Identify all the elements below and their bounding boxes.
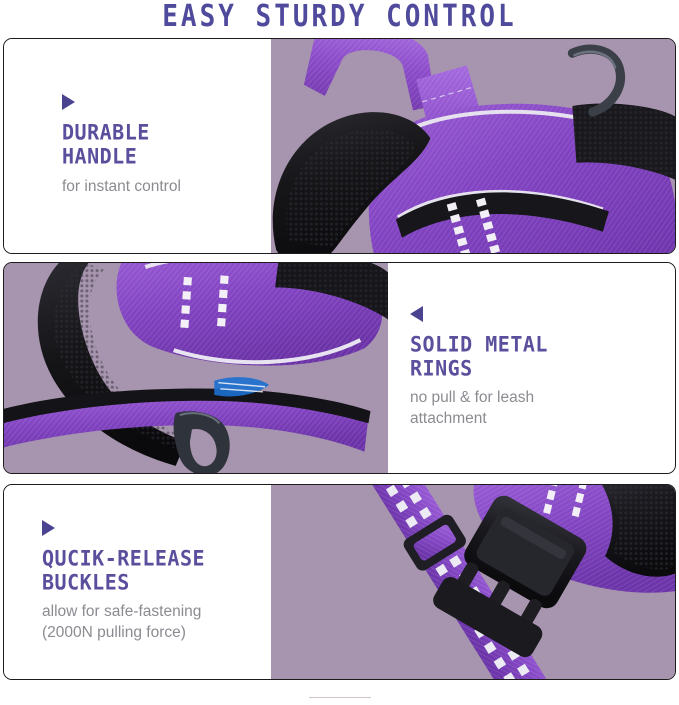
- feature-text-block: SOLID METAL RINGS no pull & for leash at…: [388, 263, 675, 473]
- page-title: EASY STURDY CONTROL: [0, 0, 679, 37]
- feature-text-block: DURABLE HANDLE for instant control: [4, 39, 271, 253]
- harness-handle-illustration: [271, 39, 675, 253]
- triangle-left-icon: [410, 306, 423, 322]
- feature-heading: SOLID METAL RINGS: [410, 332, 675, 380]
- triangle-right-icon: [42, 520, 55, 536]
- feature-heading: QUCIK-RELEASE BUCKLES: [42, 546, 271, 594]
- feature-panel-durable-handle: DURABLE HANDLE for instant control: [3, 38, 676, 254]
- feature-heading: DURABLE HANDLE: [62, 120, 271, 168]
- bottom-divider: [309, 697, 371, 698]
- product-feature-infographic: EASY STURDY CONTROL DURABLE HANDLE for i…: [0, 0, 679, 705]
- feature-text-block: QUCIK-RELEASE BUCKLES allow for safe-fas…: [4, 485, 271, 679]
- harness-ring-illustration: [4, 263, 388, 473]
- triangle-right-icon: [62, 94, 75, 110]
- feature-subtitle: allow for safe-fastening (2000N pulling …: [42, 602, 271, 644]
- feature-panel-quick-release-buckles: QUCIK-RELEASE BUCKLES allow for safe-fas…: [3, 484, 676, 680]
- feature-panel-solid-metal-rings: SOLID METAL RINGS no pull & for leash at…: [3, 262, 676, 474]
- feature-image-durable-handle: [271, 39, 675, 253]
- feature-subtitle: no pull & for leash attachment: [410, 388, 675, 430]
- feature-image-solid-metal-rings: [4, 263, 388, 473]
- harness-buckle-illustration: [271, 485, 675, 679]
- feature-image-quick-release-buckles: [271, 485, 675, 679]
- feature-subtitle: for instant control: [62, 177, 271, 198]
